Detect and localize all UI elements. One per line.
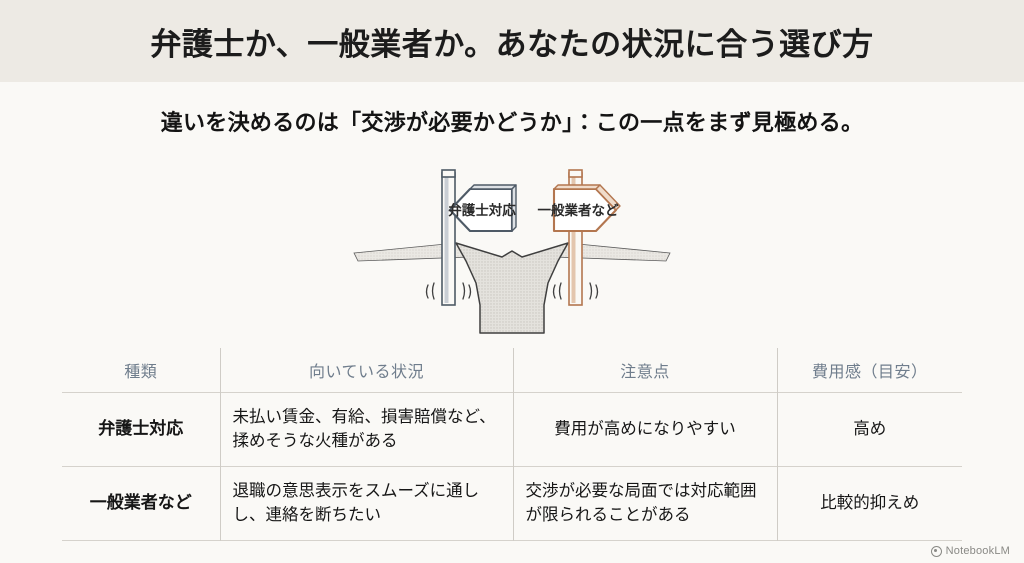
table-row: 弁護士対応 未払い賃金、有給、損害賠償など、揉めそうな火種がある 費用が高めにな… [62,393,962,467]
cell-situation-1: 退職の意思表示をスムーズに通しし、連絡を断ちたい [220,467,513,541]
cell-caution-0: 費用が高めになりやすい [513,393,777,467]
cell-situation-0: 未払い賃金、有給、損害賠償など、揉めそうな火種がある [220,393,513,467]
forked-road-illustration: 弁護士対応 一般業者など [352,165,672,340]
slide-root: 弁護士か、一般業者か。あなたの状況に合う選び方 違いを決めるのは「交渉が必要かど… [0,0,1024,563]
right-signpost: 一般業者など [538,170,621,305]
watermark: NotebookLM [931,545,1010,557]
cell-cost-1: 比較的抑えめ [777,467,962,541]
road-path [456,243,568,333]
comparison-table: 種類 向いている状況 注意点 費用感（目安） 弁護士対応 未払い賃金、有給、損害… [62,348,962,541]
column-header-situation: 向いている状況 [220,348,513,393]
column-header-type: 種類 [62,348,220,393]
subtitle: 違いを決めるのは「交渉が必要かどうか」：この一点をまず見極める。 [0,105,1024,137]
table-header-row: 種類 向いている状況 注意点 費用感（目安） [62,348,962,393]
table-row: 一般業者など 退職の意思表示をスムーズに通しし、連絡を断ちたい 交渉が必要な局面… [62,467,962,541]
cell-type-1: 一般業者など [62,467,220,541]
cell-type-0: 弁護士対応 [62,393,220,467]
page-title: 弁護士か、一般業者か。あなたの状況に合う選び方 [150,19,873,64]
right-sign-label: 一般業者など [538,202,619,218]
cell-cost-0: 高め [777,393,962,467]
left-sign-label: 弁護士対応 [448,202,516,218]
title-band: 弁護士か、一般業者か。あなたの状況に合う選び方 [0,0,1024,82]
column-header-caution: 注意点 [513,348,777,393]
watermark-label: NotebookLM [946,545,1010,557]
table-header: 種類 向いている状況 注意点 費用感（目安） [62,348,962,393]
column-header-cost: 費用感（目安） [777,348,962,393]
table-body: 弁護士対応 未払い賃金、有給、損害賠償など、揉めそうな火種がある 費用が高めにな… [62,393,962,541]
notebooklm-icon [931,546,942,557]
cell-caution-1: 交渉が必要な局面では対応範囲が限られることがある [513,467,777,541]
